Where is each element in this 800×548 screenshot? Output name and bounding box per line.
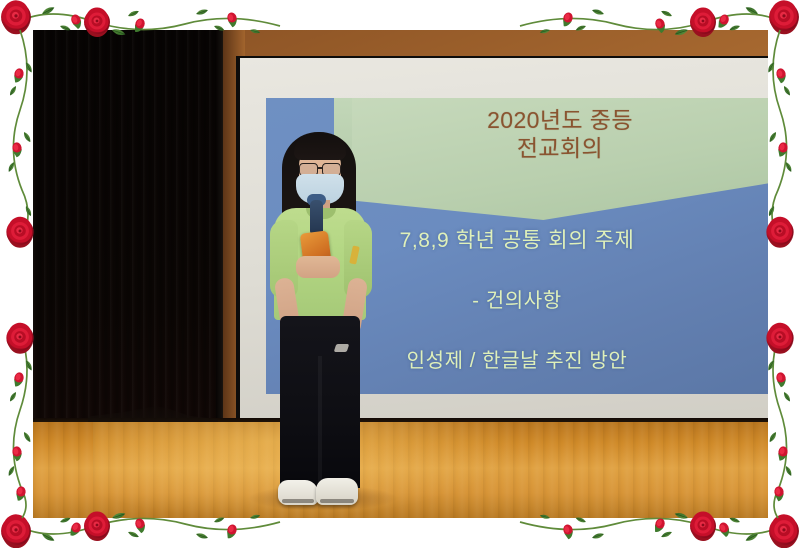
rose-vine-left: [6, 30, 33, 518]
microphone: [310, 200, 323, 234]
hair-fringe: [294, 134, 346, 160]
slide-title-line-2: 전교회의: [352, 134, 768, 162]
screenshot-root: 2020년도 중등 전교회의 7,8,9 학년 공통 회의 주제 - 건의사항 …: [0, 0, 800, 548]
slide-title-line-1: 2020년도 중등: [352, 106, 768, 134]
photograph: 2020년도 중등 전교회의 7,8,9 학년 공통 회의 주제 - 건의사항 …: [33, 30, 768, 518]
shoe-right: [316, 478, 358, 505]
shoe-left: [278, 480, 318, 505]
slide-title: 2020년도 중등 전교회의: [352, 106, 768, 162]
pants-logo: [334, 344, 350, 352]
glasses-icon: [298, 163, 342, 174]
track-pants: [280, 316, 360, 488]
hands: [296, 256, 340, 278]
rose-vine-right: [766, 30, 793, 518]
student-presenter: [266, 128, 376, 518]
